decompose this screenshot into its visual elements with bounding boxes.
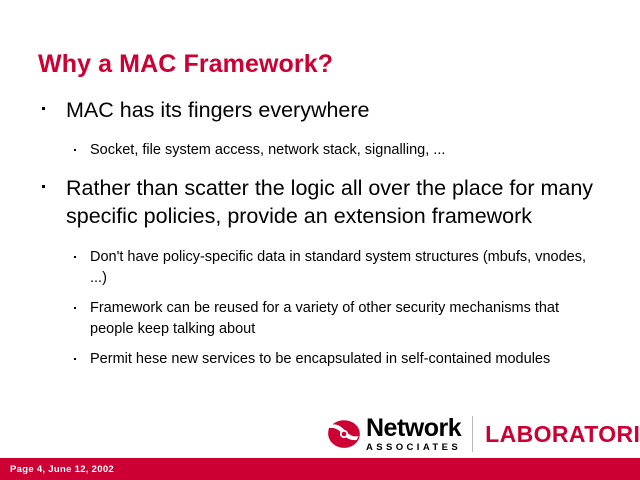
bullet-level2: Don't have policy-specific data in stand…: [38, 247, 604, 289]
spacer: [38, 340, 604, 349]
spacer: [38, 289, 604, 298]
page-title: Why a MAC Framework?: [38, 50, 333, 79]
bullet-marker-icon: [74, 149, 76, 151]
bullet-text: Socket, file system access, network stac…: [90, 142, 445, 158]
bullet-marker-icon: [74, 307, 76, 309]
bullet-level1: MAC has its fingers everywhere: [38, 96, 604, 124]
presentation-slide: Why a MAC Framework? MAC has its fingers…: [0, 0, 640, 480]
footer-page-info: Page 4, June 12, 2002: [10, 464, 114, 475]
logo-divider: [472, 416, 473, 452]
bullet-level1: Rather than scatter the logic all over t…: [38, 174, 604, 230]
bullet-level2: Permit hese new services to be encapsula…: [38, 349, 604, 370]
bullet-level2: Socket, file system access, network stac…: [38, 140, 604, 161]
bullet-marker-icon: [42, 107, 45, 110]
bullet-text: MAC has its fingers everywhere: [66, 98, 370, 122]
slide-body-content: MAC has its fingers everywhere Socket, f…: [38, 96, 604, 370]
spacer: [38, 234, 604, 247]
network-associates-laboratories-logo: Network ASSOCIATES LABORATORIES: [327, 414, 617, 454]
bullet-text: Don't have policy-specific data in stand…: [90, 249, 586, 286]
bullet-marker-icon: [74, 256, 76, 258]
logo-secondary-text: ASSOCIATES: [366, 442, 461, 453]
spacer: [38, 128, 604, 140]
bullet-marker-icon: [74, 358, 76, 360]
bullet-level2: Framework can be reused for a variety of…: [38, 298, 604, 340]
bullet-marker-icon: [42, 185, 45, 188]
network-associates-shield-icon: [327, 419, 361, 449]
spacer: [38, 161, 604, 174]
bullet-text: Permit hese new services to be encapsula…: [90, 351, 550, 367]
bullet-text: Rather than scatter the logic all over t…: [66, 176, 593, 228]
bullet-text: Framework can be reused for a variety of…: [90, 300, 559, 337]
logo-division-text: LABORATORIES: [485, 423, 640, 446]
logo-wordmark: Network ASSOCIATES: [366, 416, 461, 453]
logo-primary-text: Network: [366, 416, 461, 441]
